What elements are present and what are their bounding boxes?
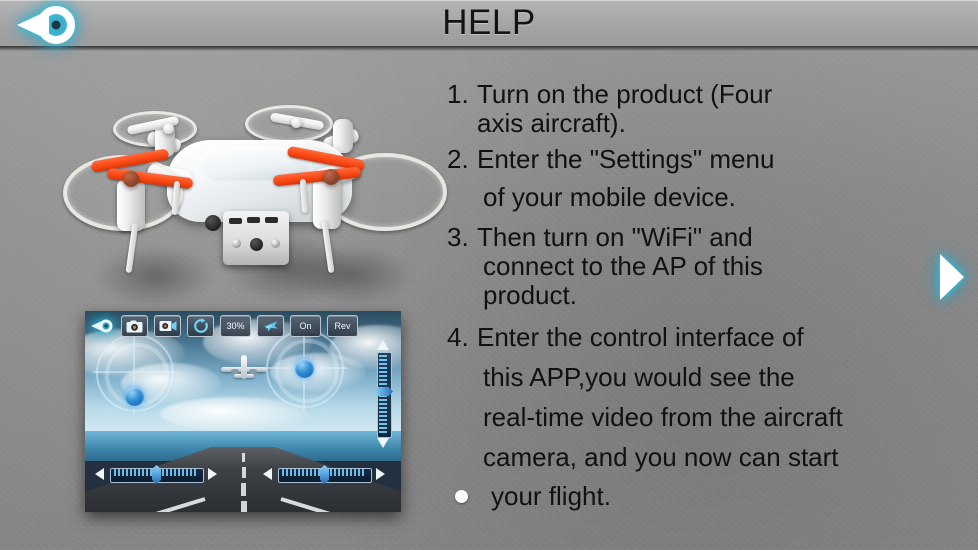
instruction-line: of your mobile device. xyxy=(447,183,947,212)
instruction-item-4: 4. Enter the control interface of this A… xyxy=(447,317,947,477)
instruction-line: Then turn on "WiFi" and xyxy=(477,223,753,252)
help-screen: HELP xyxy=(0,0,978,550)
trim-left-arrow[interactable] xyxy=(95,468,104,480)
runway-centerline-dash xyxy=(241,501,247,512)
drone-shadow xyxy=(95,245,215,307)
app-screenshot: 30% On Rev xyxy=(85,311,401,512)
instruction-number: 2. xyxy=(447,145,477,174)
trim-right-arrow[interactable] xyxy=(208,468,217,480)
left-virtual-joystick[interactable] xyxy=(93,331,177,415)
camera-vent xyxy=(265,217,278,223)
aircraft-mode-button[interactable] xyxy=(257,315,284,337)
joystick-knob[interactable] xyxy=(295,359,314,378)
spacer xyxy=(447,310,947,317)
instruction-line: Enter the "Settings" menu xyxy=(477,145,774,174)
instruction-number: 4. xyxy=(447,317,477,357)
rotor-hub-front-left xyxy=(123,171,139,187)
instruction-line: connect to the AP of this xyxy=(447,252,947,281)
drone-camera-module xyxy=(223,211,289,265)
instruction-item-2: 2. Enter the "Settings" menu xyxy=(447,145,947,174)
bullet-dot xyxy=(447,490,485,503)
instruction-line: product. xyxy=(447,281,947,310)
instruction-final-line: your flight. xyxy=(447,482,947,511)
instruction-item-1: 1. Turn on the product (Four xyxy=(447,80,947,109)
rotor-hub-rear-left xyxy=(163,123,174,134)
throttle-slider[interactable] xyxy=(375,339,392,449)
runway-centerline-dash xyxy=(242,453,245,462)
instruction-item-3: 3. Then turn on "WiFi" and xyxy=(447,223,947,252)
instruction-line: axis aircraft). xyxy=(447,109,947,138)
headless-mode-button[interactable]: On xyxy=(290,315,321,337)
joystick-crosshair-h xyxy=(93,371,177,373)
back-arrow-circle-icon xyxy=(9,4,85,46)
instruction-line: Enter the control interface of xyxy=(477,317,804,357)
plane-fuselage xyxy=(241,355,247,379)
left-trim-slider[interactable] xyxy=(95,466,217,483)
motor-rear-right xyxy=(333,119,353,153)
rotate-refresh-icon xyxy=(193,318,209,334)
rotate-flip-button[interactable] xyxy=(187,315,214,337)
drone-shadow xyxy=(293,245,413,305)
drone-product-photo xyxy=(55,95,455,310)
camera-vent xyxy=(247,217,260,223)
reverse-button[interactable]: Rev xyxy=(327,315,358,337)
throttle-down-arrow[interactable] xyxy=(377,438,389,448)
runway-centerline-dash xyxy=(241,483,246,496)
trim-left-arrow[interactable] xyxy=(263,468,272,480)
back-button[interactable] xyxy=(9,4,85,46)
camera-led xyxy=(271,239,280,248)
plane-engine-left xyxy=(231,369,239,374)
instruction-line: real-time video from the aircraft xyxy=(447,397,947,437)
throttle-up-arrow[interactable] xyxy=(377,340,389,350)
aircraft-mode-icon xyxy=(262,319,280,333)
fpv-back-button[interactable] xyxy=(89,316,115,336)
right-trim-slider[interactable] xyxy=(263,466,385,483)
back-arrow-circle-icon xyxy=(90,319,114,333)
speed-rate-button[interactable]: 30% xyxy=(220,315,251,337)
joystick-knob[interactable] xyxy=(125,387,144,406)
camera-vent xyxy=(229,218,242,224)
instruction-line: this APP,you would see the xyxy=(447,357,947,397)
instruction-line: camera, and you now can start xyxy=(447,437,947,477)
camera-lens xyxy=(250,238,263,251)
trim-right-arrow[interactable] xyxy=(376,468,385,480)
rotor-hub-front-right xyxy=(323,169,339,185)
instruction-line: your flight. xyxy=(485,482,611,511)
fpv-toolbar: 30% On Rev xyxy=(85,311,401,341)
video-record-button[interactable] xyxy=(154,315,181,337)
rotor-hub-rear-right xyxy=(291,117,302,128)
fpv-airplane xyxy=(221,355,267,381)
photo-capture-button[interactable] xyxy=(121,315,148,337)
front-camera-lens xyxy=(205,215,221,231)
runway-centerline-dash xyxy=(242,467,246,478)
instruction-line: Turn on the product (Four xyxy=(477,80,772,109)
page-title: HELP xyxy=(0,0,978,49)
instruction-number: 3. xyxy=(447,223,477,252)
camera-led xyxy=(232,239,241,248)
video-camera-icon xyxy=(159,320,177,332)
instructions-list: 1. Turn on the product (Four axis aircra… xyxy=(447,80,947,511)
plane-engine-right xyxy=(249,369,257,374)
photo-camera-icon xyxy=(126,320,143,333)
instruction-number: 1. xyxy=(447,80,477,109)
